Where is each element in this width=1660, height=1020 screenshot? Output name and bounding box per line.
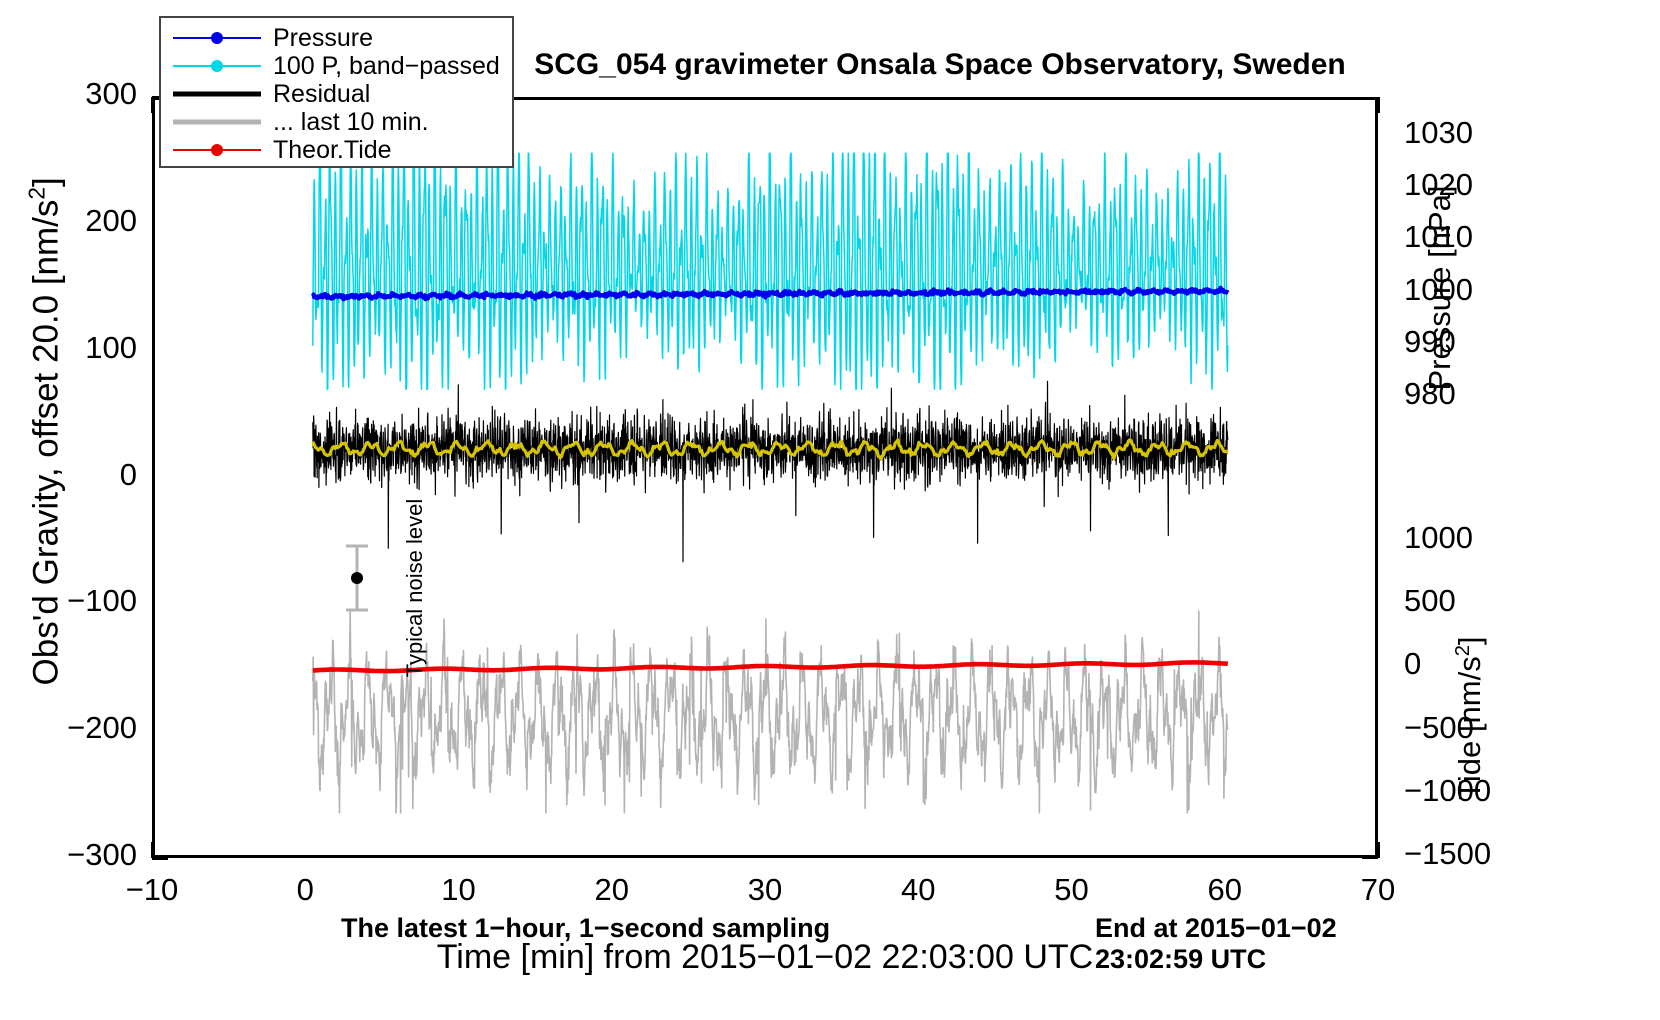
y-axis-left-tick-label: −100 (17, 583, 137, 619)
legend-label-pressure: Pressure (273, 26, 373, 51)
y-axis-tide-tick-label: −500 (1404, 710, 1544, 746)
y-axis-left-tick-label: −300 (17, 837, 137, 873)
y-axis-tide-title-close: ] (1452, 636, 1487, 645)
x-axis-tick-label: 10 (399, 872, 519, 908)
gravimeter-figure: SCG_054 gravimeter Onsala Space Observat… (0, 0, 1660, 1020)
legend-swatch-theor-tide (173, 139, 261, 161)
legend-item-theor-tide[interactable]: Theor.Tide (173, 136, 512, 164)
series-band-passed-pressure (313, 153, 1228, 389)
y-axis-pressure-tick-label: 1000 (1404, 272, 1544, 308)
legend-marker-band-passed (211, 60, 223, 72)
y-axis-tide-tick-label: 1000 (1404, 520, 1544, 556)
legend-label-last-10-min: ... last 10 min. (273, 110, 429, 135)
series-residual (313, 381, 1228, 561)
y-axis-pressure-tick-label: 1010 (1404, 219, 1544, 255)
legend-item-band-passed[interactable]: 100 P, band−passed (173, 52, 512, 80)
x-axis-tick-label: 20 (552, 872, 672, 908)
y-axis-tide-tick-label: −1000 (1404, 773, 1544, 809)
plot-canvas (155, 100, 1375, 855)
legend-label-band-passed: 100 P, band−passed (273, 54, 500, 79)
legend: Pressure100 P, band−passedResidual... la… (159, 16, 514, 168)
x-axis-tick-label: 0 (245, 872, 365, 908)
series-theor-tide (313, 662, 1228, 671)
x-axis-tick-label: −10 (92, 872, 212, 908)
x-axis-tick-label: 70 (1318, 872, 1438, 908)
x-axis-tick-label: 30 (705, 872, 825, 908)
y-axis-tide-tick-label: −1500 (1404, 836, 1544, 872)
legend-label-theor-tide: Theor.Tide (273, 138, 392, 163)
y-axis-pressure-tick-label: 1020 (1404, 167, 1544, 203)
typical-noise-level-label: Typical noise level (402, 478, 428, 698)
data-series-layer (155, 100, 1375, 855)
series-last-10-min (313, 611, 1228, 813)
y-axis-pressure-tick-label: 980 (1404, 376, 1544, 412)
legend-item-residual[interactable]: Residual (173, 80, 512, 108)
legend-swatch-last-10-min (173, 111, 261, 133)
y-axis-tide-tick-label: 500 (1404, 583, 1544, 619)
x-axis-tick-label: 40 (858, 872, 978, 908)
y-axis-left-tick-label: 200 (17, 203, 137, 239)
y-axis-left-title-sup: 2 (24, 187, 50, 200)
legend-line-residual (173, 92, 261, 97)
y-axis-pressure-tick-label: 1030 (1404, 115, 1544, 151)
y-axis-tide-tick-label: 0 (1404, 646, 1544, 682)
legend-item-pressure[interactable]: Pressure (173, 24, 512, 52)
y-axis-left-tick-label: 300 (17, 76, 137, 112)
legend-marker-pressure (211, 32, 223, 44)
sampling-note: The latest 1−hour, 1−second sampling (341, 913, 830, 944)
legend-swatch-pressure (173, 27, 261, 49)
legend-swatch-band-passed (173, 55, 261, 77)
y-axis-pressure-tick-label: 990 (1404, 324, 1544, 360)
legend-marker-theor-tide (211, 144, 223, 156)
legend-item-last-10-min[interactable]: ... last 10 min. (173, 108, 512, 136)
legend-swatch-residual (173, 83, 261, 105)
plot-area: Typical noise level The latest 1−hour, 1… (152, 97, 1378, 858)
x-axis-tick-label: 60 (1165, 872, 1285, 908)
x-axis-tick-label: 50 (1012, 872, 1132, 908)
end-time-note: End at 2015−01−02 23:02:59 UTC (1095, 913, 1375, 975)
chart-title: SCG_054 gravimeter Onsala Space Observat… (430, 48, 1450, 82)
y-axis-left-tick-label: −200 (17, 710, 137, 746)
legend-label-residual: Residual (273, 82, 370, 107)
y-axis-left-tick-label: 0 (17, 457, 137, 493)
typical-noise-level-marker (340, 542, 374, 614)
y-axis-left-tick-label: 100 (17, 330, 137, 366)
y-axis-left-title-close: ] (26, 177, 65, 187)
legend-line-last-10-min (173, 120, 261, 125)
